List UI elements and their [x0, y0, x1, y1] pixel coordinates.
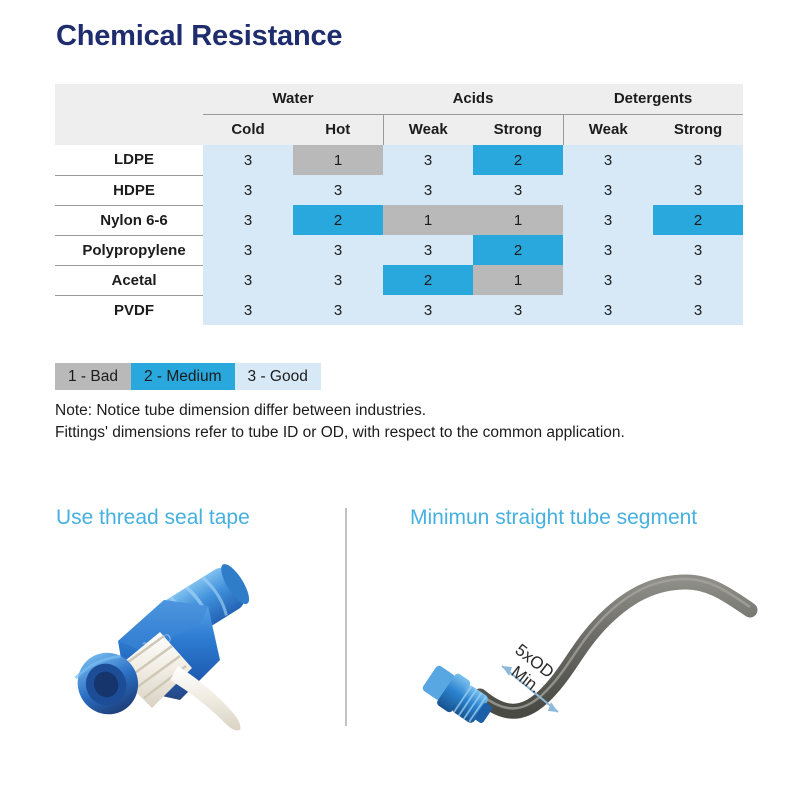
- rating-cell: 3: [653, 235, 743, 265]
- panel-heading-straight-tube-segment: Minimun straight tube segment: [410, 506, 697, 530]
- group-header-blank: [55, 84, 203, 114]
- rating-cell: 3: [653, 265, 743, 295]
- rating-cell: 3: [563, 265, 653, 295]
- group-header-water: Water: [203, 84, 383, 114]
- rating-cell: 3: [293, 175, 383, 205]
- page-title: Chemical Resistance: [56, 20, 342, 53]
- fitting-illustration: Jaco: [60, 548, 335, 733]
- page-root: Chemical Resistance Water Acids Detergen…: [0, 0, 798, 800]
- table-body: LDPE313233HDPE333333Nylon 6-6321132Polyp…: [55, 145, 743, 325]
- rating-cell: 3: [653, 295, 743, 325]
- figure-hose-barb-fitting-with-ptfe-tape: Jaco: [60, 548, 335, 733]
- figure-bent-tube-with-fitting: 5xOD Min.: [418, 548, 758, 738]
- note-line-2: Fittings' dimensions refer to tube ID or…: [55, 422, 785, 444]
- rating-cell: 1: [473, 265, 563, 295]
- group-header-acids: Acids: [383, 84, 563, 114]
- rating-legend: 1 - Bad 2 - Medium 3 - Good: [55, 363, 321, 390]
- rating-cell: 2: [473, 235, 563, 265]
- rating-cell: 3: [563, 145, 653, 175]
- subheader-acids-strong: Strong: [473, 114, 563, 145]
- legend-item-medium: 2 - Medium: [131, 363, 235, 390]
- rating-cell: 3: [473, 295, 563, 325]
- table-row: Polypropylene333233: [55, 235, 743, 265]
- row-label-material: Polypropylene: [55, 235, 203, 265]
- rating-cell: 1: [293, 145, 383, 175]
- rating-cell: 1: [473, 205, 563, 235]
- rating-cell: 3: [563, 205, 653, 235]
- subheader-acids-weak: Weak: [383, 114, 473, 145]
- panel-heading-thread-seal-tape: Use thread seal tape: [56, 506, 250, 530]
- table-row: LDPE313233: [55, 145, 743, 175]
- legend-item-good: 3 - Good: [235, 363, 321, 390]
- rating-cell: 3: [563, 295, 653, 325]
- table-row: PVDF333333: [55, 295, 743, 325]
- group-header-detergents: Detergents: [563, 84, 743, 114]
- rating-cell: 2: [653, 205, 743, 235]
- subheader-detergents-weak: Weak: [563, 114, 653, 145]
- row-label-material: LDPE: [55, 145, 203, 175]
- table-row: HDPE333333: [55, 175, 743, 205]
- table-row: Nylon 6-6321132: [55, 205, 743, 235]
- rating-cell: 3: [203, 205, 293, 235]
- rating-cell: 3: [563, 175, 653, 205]
- rating-cell: 2: [473, 145, 563, 175]
- row-label-material: PVDF: [55, 295, 203, 325]
- rating-cell: 3: [383, 235, 473, 265]
- table-subheader-row: Cold Hot Weak Strong Weak Strong: [55, 114, 743, 145]
- subheader-detergents-strong: Strong: [653, 114, 743, 145]
- row-label-material: Acetal: [55, 265, 203, 295]
- rating-cell: 3: [203, 145, 293, 175]
- note-block: Note: Notice tube dimension differ betwe…: [55, 400, 785, 444]
- rating-cell: 3: [203, 235, 293, 265]
- rating-cell: 2: [383, 265, 473, 295]
- rating-cell: 3: [383, 295, 473, 325]
- subheader-water-cold: Cold: [203, 114, 293, 145]
- subheader-water-hot: Hot: [293, 114, 383, 145]
- panel-divider: [345, 508, 347, 726]
- rating-cell: 3: [293, 295, 383, 325]
- rating-cell: 3: [203, 175, 293, 205]
- rating-cell: 3: [203, 295, 293, 325]
- rating-cell: 3: [473, 175, 563, 205]
- row-label-material: Nylon 6-6: [55, 205, 203, 235]
- row-label-material: HDPE: [55, 175, 203, 205]
- legend-item-bad: 1 - Bad: [55, 363, 131, 390]
- subheader-blank: [55, 114, 203, 145]
- table-group-header-row: Water Acids Detergents: [55, 84, 743, 114]
- rating-cell: 3: [383, 175, 473, 205]
- chemical-resistance-table: Water Acids Detergents Cold Hot Weak Str…: [55, 84, 743, 325]
- rating-cell: 3: [383, 145, 473, 175]
- rating-cell: 3: [293, 265, 383, 295]
- rating-cell: 3: [653, 145, 743, 175]
- rating-cell: 3: [563, 235, 653, 265]
- table-head: Water Acids Detergents Cold Hot Weak Str…: [55, 84, 743, 145]
- rating-cell: 3: [203, 265, 293, 295]
- table-row: Acetal332133: [55, 265, 743, 295]
- rating-cell: 3: [293, 235, 383, 265]
- rating-cell: 3: [653, 175, 743, 205]
- rating-cell: 2: [293, 205, 383, 235]
- rating-cell: 1: [383, 205, 473, 235]
- tube-illustration: 5xOD Min.: [418, 548, 758, 738]
- note-line-1: Note: Notice tube dimension differ betwe…: [55, 400, 785, 422]
